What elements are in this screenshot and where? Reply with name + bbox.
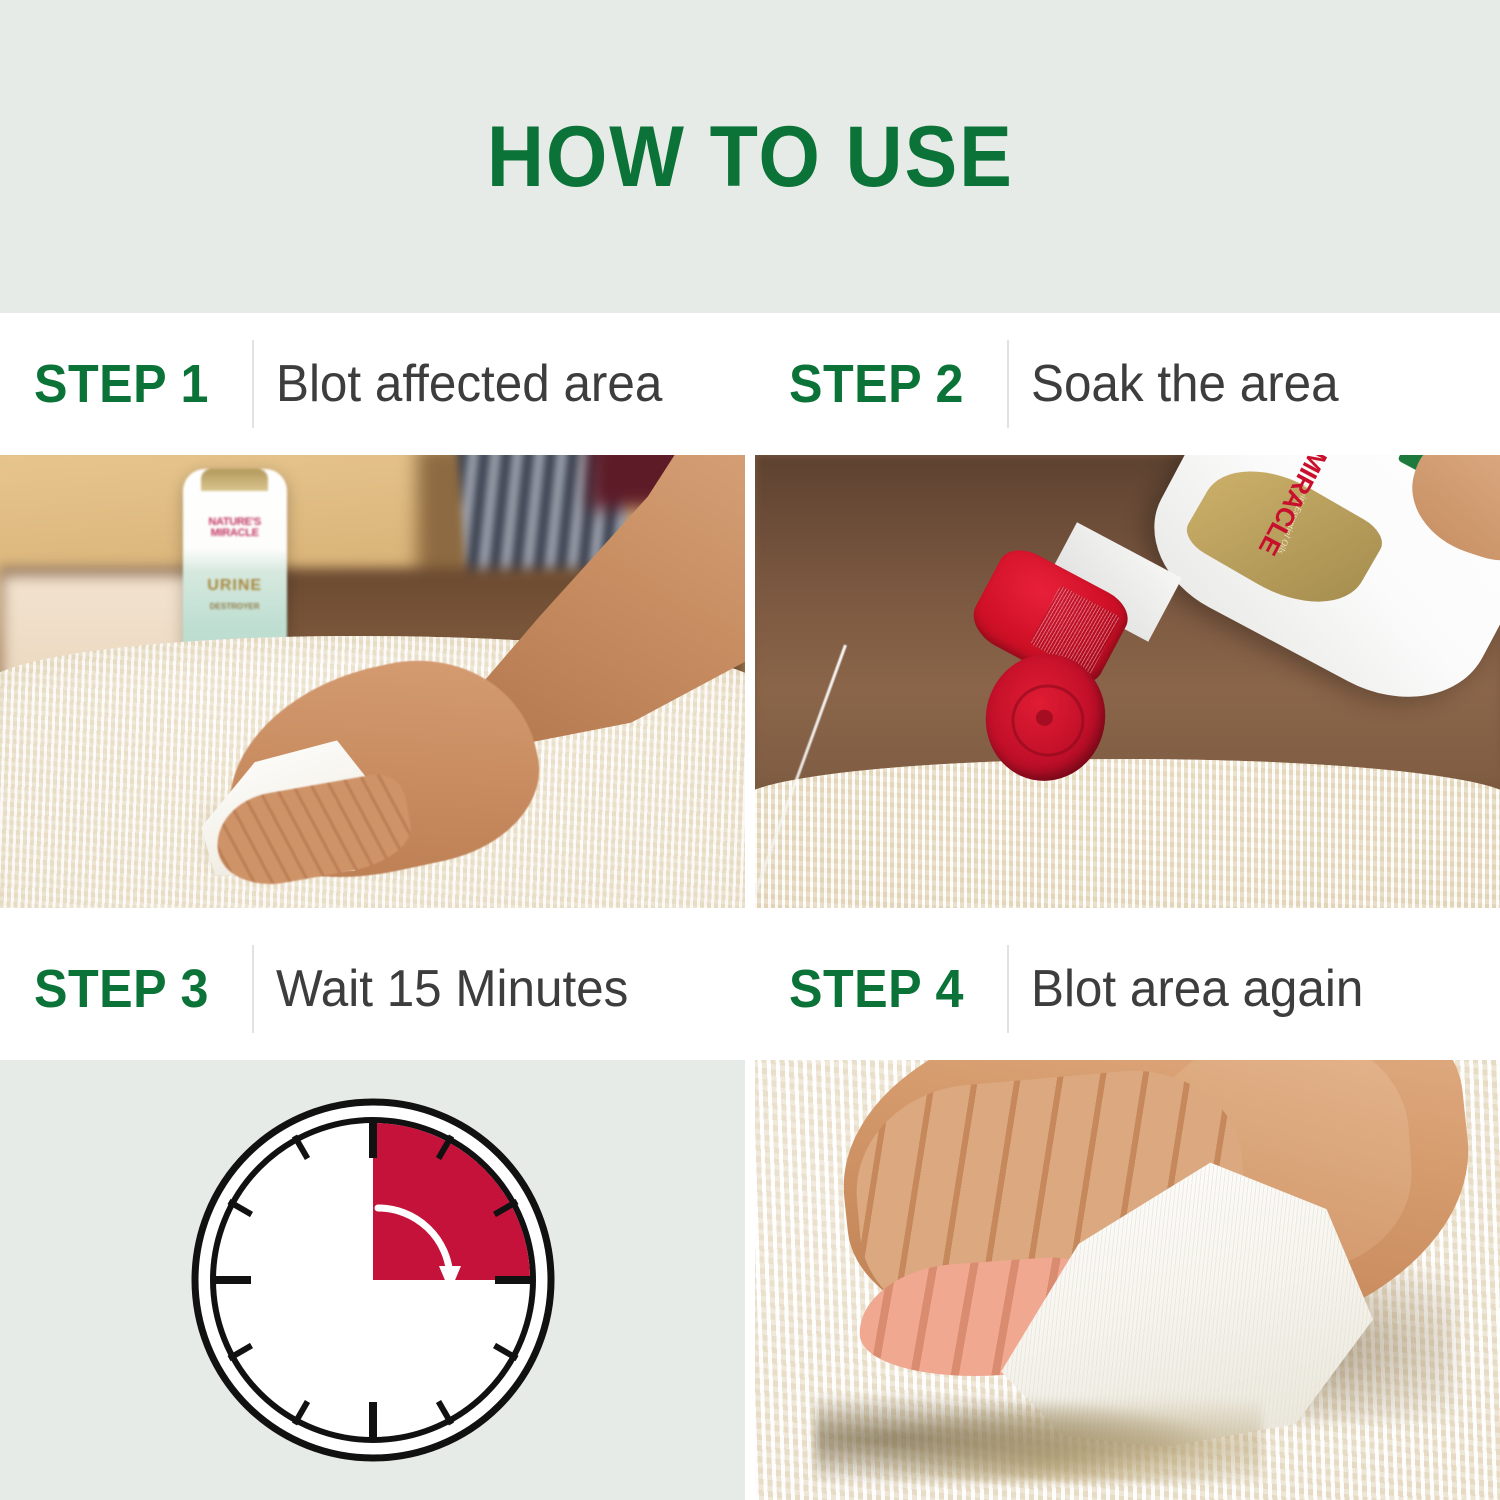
grid-gutter <box>0 908 745 918</box>
clock-icon <box>173 1080 573 1480</box>
grid-gutter <box>755 908 1500 918</box>
clock-graphic <box>0 1060 745 1500</box>
step-2-label-row: STEP 2 Soak the area <box>755 313 1500 455</box>
step-4-number: STEP 4 <box>789 962 964 1016</box>
step-3-label-row: STEP 3 Wait 15 Minutes <box>0 918 745 1060</box>
step-1-number: STEP 1 <box>34 357 209 411</box>
carpet-dent <box>815 1386 1262 1483</box>
clock-wrapper <box>0 1060 745 1500</box>
steps-grid: STEP 1 Blot affected area STEP 2 Soak th… <box>0 313 1500 1500</box>
page-title: HOW TO USE <box>487 114 1014 200</box>
step-1-text: Blot affected area <box>276 358 662 410</box>
bottle-cap <box>201 469 268 491</box>
step-4-divider <box>1007 945 1009 1033</box>
bottle-subtitle-text: DESTROYER <box>193 602 276 611</box>
photo-blot-area-again <box>755 1060 1500 1500</box>
photo-blot-affected-area: NATURE'S MIRACLE URINE DESTROYER <box>0 455 745 908</box>
photo-soak-the-area: Fragranced with Essential Oils NATURE'S … <box>755 455 1500 908</box>
step-1-label-row: STEP 1 Blot affected area <box>0 313 745 455</box>
step-4-label-row: STEP 4 Blot area again <box>755 918 1500 1060</box>
grid-gutter <box>745 918 755 1060</box>
step-2-number: STEP 2 <box>789 357 964 411</box>
bottle-brand-text: NATURE'S MIRACLE <box>190 517 280 539</box>
carpet <box>755 759 1500 909</box>
how-to-use-infographic: HOW TO USE STEP 1 Blot affected area STE… <box>0 0 1500 1500</box>
step-3-number: STEP 3 <box>34 962 209 1016</box>
step-1-divider <box>252 340 254 428</box>
bottle-product-text: URINE <box>193 577 276 595</box>
grid-gutter <box>745 455 755 908</box>
step-4-text: Blot area again <box>1031 963 1363 1015</box>
step-2-text: Soak the area <box>1031 358 1339 410</box>
grid-gutter <box>745 908 755 918</box>
header-band: HOW TO USE <box>0 0 1500 313</box>
step-3-text: Wait 15 Minutes <box>276 963 628 1015</box>
grid-gutter <box>745 1060 755 1500</box>
step-2-divider <box>1007 340 1009 428</box>
step-3-divider <box>252 945 254 1033</box>
grid-gutter <box>745 313 755 455</box>
carpet-texture <box>755 759 1500 909</box>
